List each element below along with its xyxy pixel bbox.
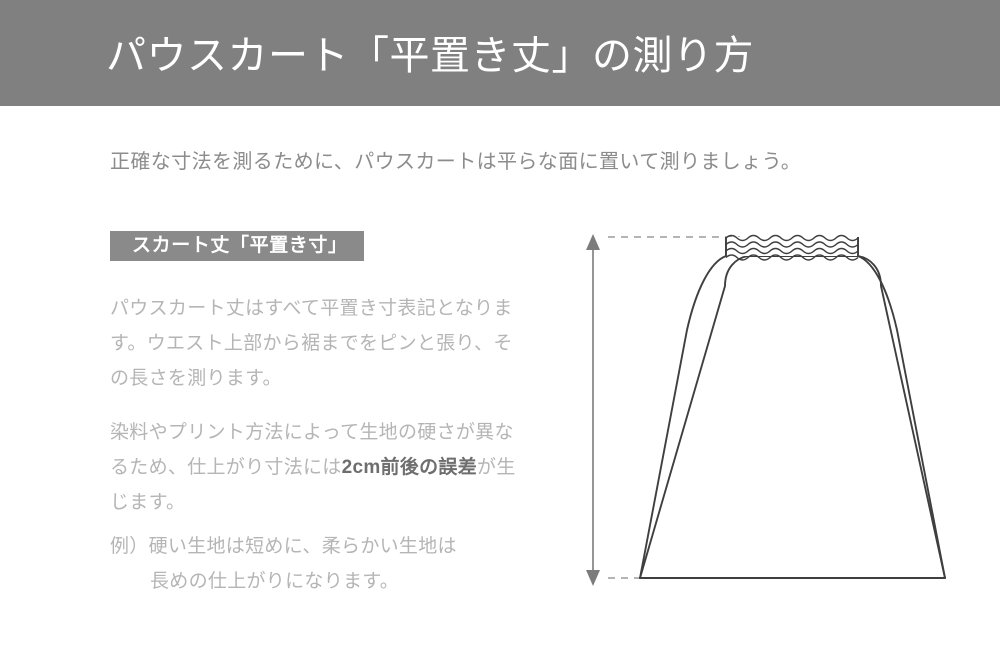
- page-root: パウスカート「平置き丈」の測り方 正確な寸法を測るために、パウスカートは平らな面…: [0, 0, 1000, 660]
- skirt-diagram: [560, 210, 980, 610]
- body-paragraph-2: 染料やプリント方法によって生地の硬さが異なるため、仕上がり寸法には2cm前後の誤…: [110, 415, 530, 520]
- skirt-body-outline: [640, 256, 945, 578]
- measure-arrow-up-icon: [586, 234, 600, 250]
- measure-arrow-down-icon: [586, 570, 600, 586]
- page-title: パウスカート「平置き丈」の測り方: [106, 34, 754, 78]
- intro-text: 正確な寸法を測るために、パウスカートは平らな面に置いて測りましょう。: [110, 148, 801, 176]
- body-paragraph-3-line-2: 長めの仕上がりになります。: [110, 564, 540, 599]
- body-paragraph-3: 例）硬い生地は短めに、柔らかい生地は 長めの仕上がりになります。: [110, 529, 540, 599]
- header-bar: パウスカート「平置き丈」の測り方: [0, 0, 1000, 106]
- body-paragraph-3-line-1: 例）硬い生地は短めに、柔らかい生地は: [110, 529, 457, 564]
- body-paragraph-2-emphasis: 2cm前後の誤差: [342, 457, 477, 478]
- section-badge: スカート丈「平置き寸」: [110, 231, 364, 261]
- body-paragraph-1: パウスカート丈はすべて平置き寸表記となります。ウエスト上部から裾までをピンと張り…: [110, 291, 530, 396]
